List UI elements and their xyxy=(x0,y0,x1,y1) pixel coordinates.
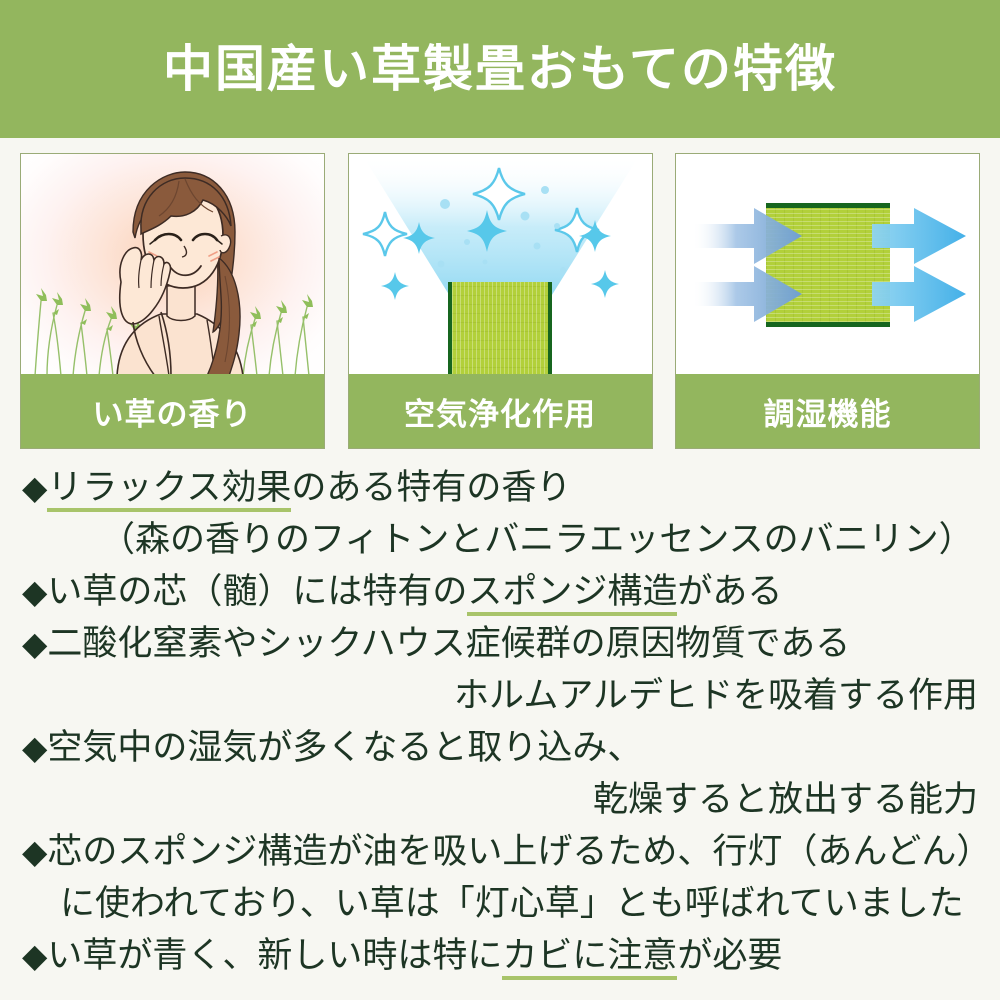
woman-figure-icon xyxy=(21,154,324,376)
diamond-bullet-icon: ◆ xyxy=(22,826,47,878)
card-label-text: い草の香り xyxy=(93,389,253,434)
card-label-air-purification: 空気浄化作用 xyxy=(349,374,652,448)
airflow-arrows xyxy=(676,154,979,376)
bullet-text-highlight: リラックス効果 xyxy=(47,468,291,512)
bullet-line: に使われており、い草は「灯心草」とも呼ばれていました xyxy=(0,878,1000,930)
diamond-bullet-icon: ◆ xyxy=(22,722,47,774)
bullet-text: い草が青く、新しい時は特に xyxy=(47,936,502,975)
bullet-text: に使われており、い草は「灯心草」とも呼ばれていました xyxy=(60,884,964,923)
bullet-line: ◆い草の芯（髄）には特有のスポンジ構造がある xyxy=(0,566,1000,618)
bullet-line: ホルムアルデヒドを吸着する作用 xyxy=(0,670,1000,722)
feature-card-air-purification[interactable]: 空気浄化作用 xyxy=(348,153,653,449)
bullet-text: 二酸化窒素やシックハウス症候群の原因物質である xyxy=(47,624,850,663)
bullet-line: ◆二酸化窒素やシックハウス症候群の原因物質である xyxy=(0,618,1000,670)
bullet-text: のある特有の香り xyxy=(291,468,571,507)
bullet-line: ◆芯のスポンジ構造が油を吸い上げるため、行灯（あんどん） xyxy=(0,826,1000,878)
bullet-text: 乾燥すると放出する能力 xyxy=(593,780,978,819)
bullet-text: 空気中の湿気が多くなると取り込み、 xyxy=(47,728,642,767)
card-label-text: 調湿機能 xyxy=(764,389,892,434)
bullet-line: ◆リラックス効果のある特有の香り xyxy=(0,462,1000,514)
diamond-bullet-icon: ◆ xyxy=(22,462,47,514)
card-label-humidity: 調湿機能 xyxy=(676,374,979,448)
bullet-text-highlight: スポンジ構造 xyxy=(467,572,677,616)
diamond-bullet-icon: ◆ xyxy=(22,618,47,670)
diamond-bullet-icon: ◆ xyxy=(22,566,47,618)
bullet-text: が必要 xyxy=(677,936,782,975)
diamond-bullet-icon: ◆ xyxy=(22,930,47,982)
bullet-text: （森の香りのフィトンとバニラエッセンスのバニリン） xyxy=(100,520,974,559)
infographic-page: 中国産い草製畳おもての特徴 xyxy=(0,0,1000,1000)
card-label-aroma: い草の香り xyxy=(21,374,324,448)
feature-bullet-list: ◆リラックス効果のある特有の香り（森の香りのフィトンとバニラエッセンスのバニリン… xyxy=(0,462,1000,982)
bullet-text: がある xyxy=(677,572,782,611)
humidity-control-icon xyxy=(676,154,979,376)
feature-card-aroma[interactable]: い草の香り xyxy=(20,153,325,449)
bullet-line: 乾燥すると放出する能力 xyxy=(0,774,1000,826)
feature-card-row: い草の香り xyxy=(20,153,980,449)
card-label-text: 空気浄化作用 xyxy=(404,389,596,434)
bullet-text: ホルムアルデヒドを吸着する作用 xyxy=(454,676,978,715)
bullet-line: ◆空気中の湿気が多くなると取り込み、 xyxy=(0,722,1000,774)
header-band: 中国産い草製畳おもての特徴 xyxy=(0,0,1000,138)
tatami-mat-graphic xyxy=(448,282,552,376)
bullet-text: 芯のスポンジ構造が油を吸い上げるため、行灯（あんどん） xyxy=(47,832,991,871)
aroma-woman-icon xyxy=(21,154,324,376)
page-title: 中国産い草製畳おもての特徴 xyxy=(163,44,837,94)
bullet-line: （森の香りのフィトンとバニラエッセンスのバニリン） xyxy=(0,514,1000,566)
bullet-text: い草の芯（髄）には特有の xyxy=(47,572,467,611)
bullet-text-highlight: カビに注意 xyxy=(502,936,677,980)
bullet-line: ◆い草が青く、新しい時は特にカビに注意が必要 xyxy=(0,930,1000,982)
feature-card-humidity[interactable]: 調湿機能 xyxy=(675,153,980,449)
air-purification-icon xyxy=(349,154,652,376)
